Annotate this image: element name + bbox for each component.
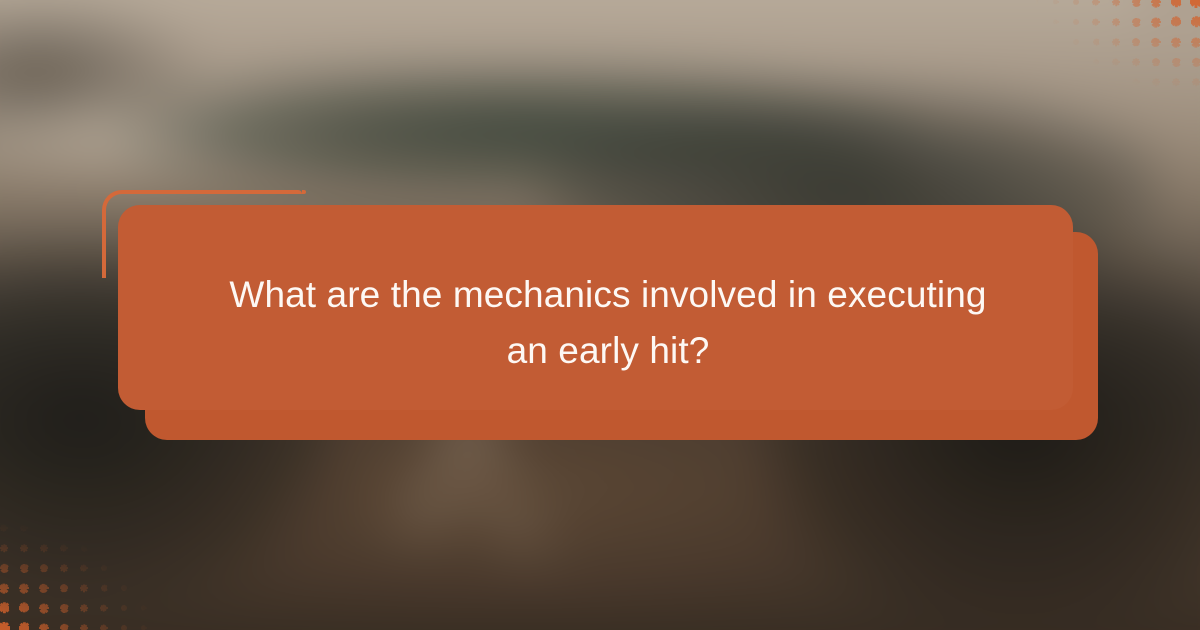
social-card-canvas: What are the mechanics involved in execu…	[0, 0, 1200, 630]
headline-container: What are the mechanics involved in execu…	[118, 205, 1098, 440]
headline-text: What are the mechanics involved in execu…	[208, 267, 1008, 378]
